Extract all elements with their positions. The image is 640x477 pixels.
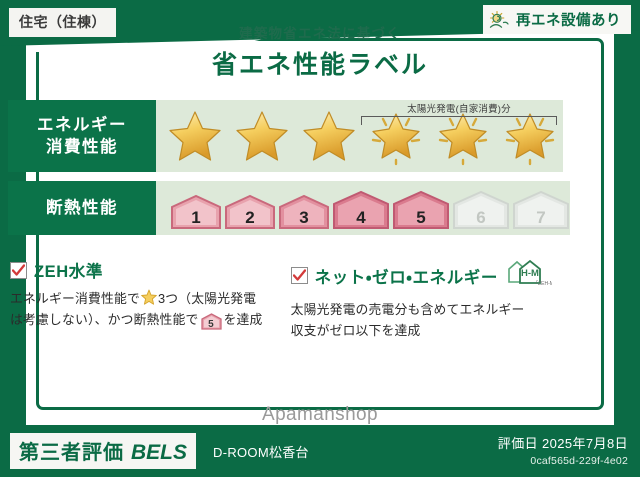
- bels-en-label: BELS: [131, 441, 187, 465]
- energy-row-body: 太陽光発電(自家消費)分: [156, 100, 563, 172]
- zeh-checkbox: [10, 262, 27, 279]
- zehm-house-logo-icon: H-M 「ZEH-M」: [506, 258, 552, 288]
- insulation-grade-6: 6: [452, 190, 510, 230]
- stars-area: [156, 104, 563, 168]
- insulation-row-body: 1 2 3: [156, 181, 570, 235]
- grade-value: 5: [416, 208, 425, 228]
- zeh-heading: ZEH水準: [10, 258, 273, 282]
- insulation-grade-2: 2: [224, 194, 276, 230]
- footer: 第三者評価 BELS D-ROOM松香台 評価日 2025年7月8日 0caf5…: [0, 425, 640, 477]
- bels-badge: 第三者評価 BELS: [10, 433, 196, 469]
- grade-value: 1: [191, 208, 200, 228]
- zehm-logo-caption: 「ZEH-M」: [533, 281, 552, 287]
- star-icon: [166, 108, 224, 164]
- star-solar-icon: [499, 106, 561, 166]
- rating-rows: エネルギー 消費性能 太陽光発電(自家消費)分: [8, 100, 560, 244]
- nze-title: ネット・ゼロ・エネルギー: [315, 264, 498, 288]
- insulation-grade-5: 5: [392, 190, 450, 230]
- energy-label-line2: 消費性能: [46, 136, 118, 158]
- sun-renewable-icon: [489, 10, 511, 30]
- zehm-logo: H-M 「ZEH-M」: [506, 258, 552, 293]
- grade-value: 6: [476, 208, 485, 228]
- insulation-grade-7: 7: [512, 190, 570, 230]
- inline-grade-value: 5: [208, 319, 214, 330]
- nze-description: 太陽光発電の売電分も含めてエネルギー収支がゼロ以下を達成: [291, 300, 552, 341]
- check-icon: [12, 264, 25, 277]
- renewable-badge-label: 再エネ設備あり: [516, 9, 621, 30]
- insulation-grade-1: 1: [170, 194, 222, 230]
- star-rating-solar-6: [497, 104, 563, 168]
- insulation-row-label: 断熱性能: [8, 181, 156, 235]
- inline-grade-badge: 5: [201, 313, 222, 328]
- net-zero-energy-section: ネット・ゼロ・エネルギー H-M 「ZEH-M」 太陽光発電の売電分も含めてエネ…: [281, 258, 560, 341]
- page-title: 省エネ性能ラベル: [0, 45, 640, 81]
- zeh-desc-starcount: 3つ（太陽光発電: [158, 291, 256, 306]
- nze-heading: ネット・ゼロ・エネルギー H-M 「ZEH-M」: [291, 258, 552, 293]
- star-solar-icon: [432, 106, 494, 166]
- house-type-tag: 住宅（住棟）: [9, 8, 116, 37]
- watermark: Apamanshop: [0, 404, 640, 426]
- star-rating-solar-5: [430, 104, 496, 168]
- zeh-desc-part3: を達成: [224, 312, 263, 327]
- star-rating-3: [296, 104, 362, 168]
- zeh-title: ZEH水準: [34, 258, 103, 282]
- star-rating-2: [229, 104, 295, 168]
- star-icon: [141, 289, 157, 305]
- evaluation-id: 0caf565d-229f-4e02: [498, 455, 628, 467]
- energy-performance-row: エネルギー 消費性能 太陽光発電(自家消費)分: [8, 100, 560, 172]
- footer-meta: 評価日 2025年7月8日 0caf565d-229f-4e02: [498, 433, 628, 467]
- star-rating-1: [162, 104, 228, 168]
- energy-label-line1: エネルギー: [37, 114, 127, 136]
- check-icon: [293, 269, 306, 282]
- nze-checkbox: [291, 267, 308, 284]
- grades-area: 1 2 3: [156, 181, 570, 235]
- evaluation-date: 評価日 2025年7月8日: [498, 433, 628, 452]
- energy-performance-label: 住宅（住棟） 再エネ設備あり 建築物省エネ法に基づく 省エネ性能ラベル: [0, 0, 640, 477]
- zeh-standard-section: ZEH水準 エネルギー消費性能で 3つ（太陽光発電は考慮しない）、かつ断熱性能で…: [10, 258, 281, 341]
- property-name: D-ROOM松香台: [213, 442, 309, 461]
- grade-value: 2: [245, 208, 254, 228]
- grade-value: 7: [536, 208, 545, 228]
- zehm-logo-text: H-M: [521, 268, 539, 279]
- zeh-description: エネルギー消費性能で 3つ（太陽光発電は考慮しない）、かつ断熱性能で 5 を達成: [10, 289, 273, 330]
- zeh-desc-part1: エネルギー消費性能で: [10, 291, 140, 306]
- bels-jp-label: 第三者評価: [19, 436, 124, 465]
- grade-value: 3: [299, 208, 308, 228]
- insulation-performance-row: 断熱性能 1: [8, 181, 560, 235]
- insulation-grade-3: 3: [278, 194, 330, 230]
- energy-row-label: エネルギー 消費性能: [8, 100, 156, 172]
- insulation-label-text: 断熱性能: [46, 197, 118, 219]
- star-icon: [300, 108, 358, 164]
- star-solar-icon: [365, 106, 427, 166]
- nze-desc-line2: 収支がゼロ以下を達成: [291, 323, 421, 338]
- grade-value: 4: [356, 208, 365, 228]
- nze-desc-line1: 太陽光発電の売電分も含めてエネルギー: [291, 302, 525, 317]
- zeh-desc-part2: は考慮しない）、かつ断熱性能で: [10, 312, 199, 327]
- renewable-equipment-badge: 再エネ設備あり: [483, 5, 631, 34]
- star-rating-solar-4: [363, 104, 429, 168]
- insulation-grade-4: 4: [332, 190, 390, 230]
- star-icon: [233, 108, 291, 164]
- info-columns: ZEH水準 エネルギー消費性能で 3つ（太陽光発電は考慮しない）、かつ断熱性能で…: [10, 258, 560, 341]
